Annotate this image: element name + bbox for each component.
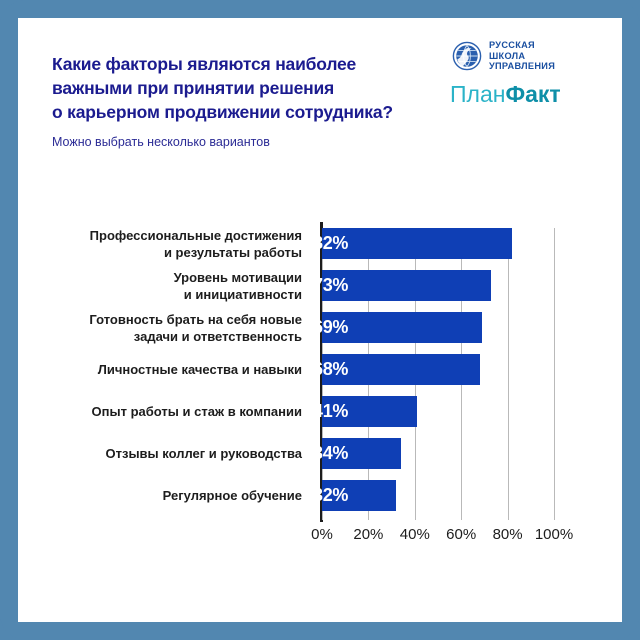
bar-value-label: 73% (313, 270, 482, 301)
bar: 41% (322, 396, 417, 427)
bar-row: 69% (322, 312, 554, 343)
infographic-card: Какие факторы являются наиболее важными … (18, 18, 622, 622)
bar-row: 82% (322, 228, 554, 259)
x-tick-label: 20% (353, 526, 383, 543)
bar-value-label: 32% (313, 480, 387, 511)
category-label: Опыт работы и стаж в компании (34, 403, 302, 420)
rsu-logo-text: РУССКАЯ ШКОЛА УПРАВЛЕНИЯ (489, 40, 555, 72)
category-label-wrap: Личностные качества и навыки (34, 361, 302, 378)
category-label-wrap: Профессиональные достижения и результаты… (34, 227, 302, 261)
bar: 68% (322, 354, 480, 385)
category-label: Регулярное обучение (34, 487, 302, 504)
category-label-wrap: Отзывы коллег и руководства (34, 445, 302, 462)
bar: 82% (322, 228, 512, 259)
outer-frame: Какие факторы являются наиболее важными … (0, 0, 640, 640)
x-tick-label: 0% (311, 526, 333, 543)
x-tick-label: 40% (400, 526, 430, 543)
header: Какие факторы являются наиболее важными … (18, 18, 622, 158)
page-subtitle: Можно выбрать несколько вариантов (52, 134, 270, 150)
globe-icon (452, 41, 482, 71)
category-label-wrap: Опыт работы и стаж в компании (34, 403, 302, 420)
category-label: Отзывы коллег и руководства (34, 445, 302, 462)
bar-value-label: 68% (313, 354, 471, 385)
bar-value-label: 41% (313, 396, 408, 427)
bar-value-label: 34% (313, 438, 392, 469)
category-label-wrap: Регулярное обучение (34, 487, 302, 504)
bar-value-label: 69% (313, 312, 473, 343)
bar-value-label: 82% (313, 228, 503, 259)
bar: 32% (322, 480, 396, 511)
logo-block: РУССКАЯ ШКОЛА УПРАВЛЕНИЯ ПланФакт (440, 40, 600, 107)
bar-row: 73% (322, 270, 554, 301)
rsu-logo: РУССКАЯ ШКОЛА УПРАВЛЕНИЯ (440, 40, 600, 72)
category-label: Уровень мотивации и инициативности (34, 269, 302, 303)
bar-row: 34% (322, 438, 554, 469)
bar-chart: 82%73%69%68%41%34%32% 0%20%40%60%80%100%… (18, 188, 622, 578)
bar: 69% (322, 312, 482, 343)
planfakt-logo-part2: Факт (505, 81, 560, 107)
bar: 73% (322, 270, 491, 301)
x-tick-label: 80% (493, 526, 523, 543)
bar: 34% (322, 438, 401, 469)
planfakt-logo-part1: План (450, 81, 505, 107)
x-tick-label: 60% (446, 526, 476, 543)
page-title: Какие факторы являются наиболее важными … (52, 52, 432, 124)
x-tick-label: 100% (535, 526, 573, 543)
gridline (554, 228, 555, 520)
planfakt-logo: ПланФакт (440, 81, 600, 107)
bar-row: 32% (322, 480, 554, 511)
bar-row: 41% (322, 396, 554, 427)
category-label-wrap: Уровень мотивации и инициативности (34, 269, 302, 303)
category-label-wrap: Готовность брать на себя новые задачи и … (34, 311, 302, 345)
category-label: Готовность брать на себя новые задачи и … (34, 311, 302, 345)
category-label: Личностные качества и навыки (34, 361, 302, 378)
bar-row: 68% (322, 354, 554, 385)
category-label: Профессиональные достижения и результаты… (34, 227, 302, 261)
plot-area: 82%73%69%68%41%34%32% 0%20%40%60%80%100% (322, 228, 554, 520)
